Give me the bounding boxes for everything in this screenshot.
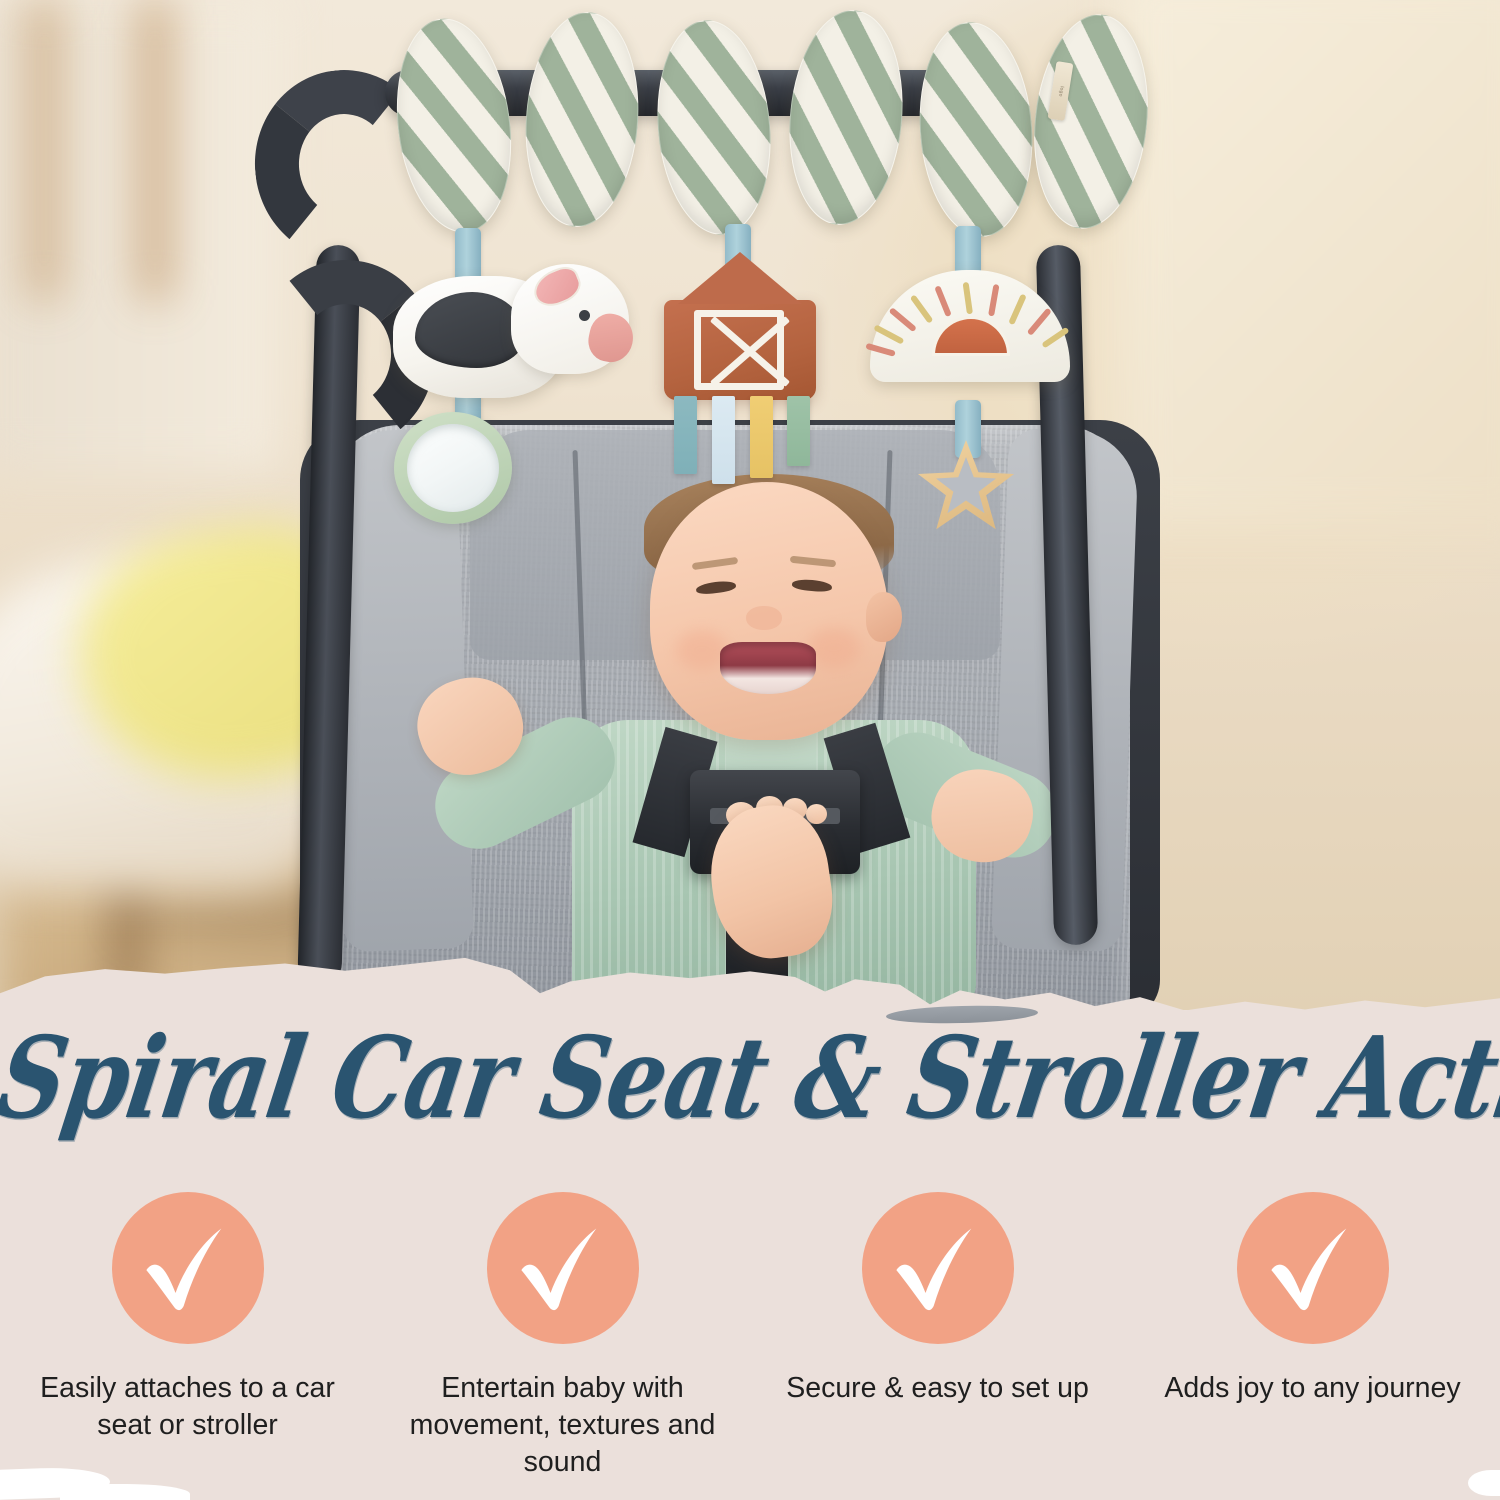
feature-label: Easily attaches to a car seat or strolle… (33, 1370, 343, 1444)
ribbon-tag-teal (674, 396, 697, 474)
barn-plush-toy (660, 252, 820, 402)
feature-item: Easily attaches to a car seat or strolle… (0, 1192, 375, 1444)
spiral-coil (913, 18, 1040, 240)
spiral-coil (519, 8, 646, 230)
ribbon-tag-yellow (750, 396, 773, 478)
product-photo-scene: logo (0, 0, 1500, 1010)
spiral-coil (385, 12, 522, 239)
mirror-glass (407, 424, 499, 512)
feature-item: Adds joy to any journey (1125, 1192, 1500, 1407)
check-badge (862, 1192, 1014, 1344)
feature-label: Secure & easy to set up (786, 1370, 1089, 1407)
check-badge (112, 1192, 264, 1344)
feature-label: Adds joy to any journey (1164, 1370, 1460, 1407)
sunrise-plush-toy (870, 270, 1070, 390)
background-wood-slat (140, 0, 170, 300)
background-wall-right (1120, 0, 1500, 530)
feature-label: Entertain baby with movement, textures a… (408, 1370, 718, 1481)
cow-eye (579, 310, 590, 321)
mirror-toy (394, 412, 512, 524)
barn-roof (678, 252, 802, 304)
spiral-coil (649, 16, 779, 240)
star-teether-ring (918, 440, 1014, 532)
background-wood-slat (30, 0, 58, 300)
feature-list: Easily attaches to a car seat or strolle… (0, 1192, 1500, 1492)
check-icon (511, 1216, 615, 1320)
feature-item: Entertain baby with movement, textures a… (375, 1192, 750, 1481)
check-badge (487, 1192, 639, 1344)
check-icon (136, 1216, 240, 1320)
ribbon-tag-light-blue (712, 396, 735, 484)
check-badge (1237, 1192, 1389, 1344)
check-icon (1261, 1216, 1365, 1320)
page-title: Spiral Car Seat & Stroller Activity Toy (0, 1022, 1500, 1134)
ribbon-tag-sage (787, 396, 810, 466)
barn-door-frame (694, 310, 784, 390)
feature-item: Secure & easy to set up (750, 1192, 1125, 1407)
check-icon (886, 1216, 990, 1320)
spiral-activity-toy (390, 10, 1090, 240)
spiral-coil (781, 6, 911, 230)
cow-plush-toy (393, 258, 633, 408)
